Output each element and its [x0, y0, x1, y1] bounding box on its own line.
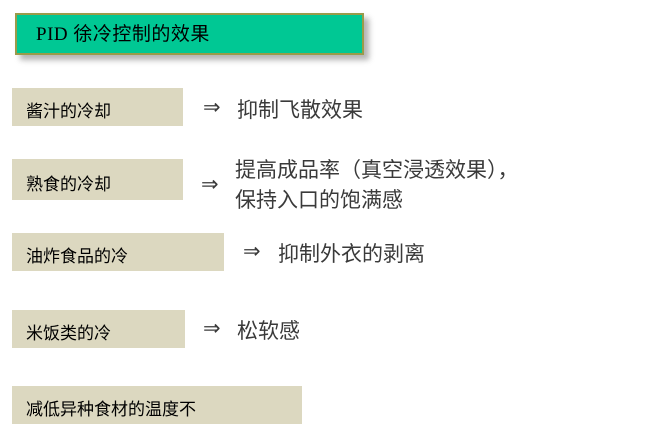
effect-description: 抑制飞散效果 [237, 95, 363, 125]
double-arrow-right-icon: ⇒ [201, 174, 219, 195]
effect-description-line: 松软感 [237, 316, 300, 346]
page-title: PID 徐冷控制的效果 [36, 19, 210, 46]
effect-label-text: 减低异种食材的温度不 [26, 395, 196, 420]
effect-description-line: 提高成品率（真空浸透效果）， [235, 155, 519, 185]
effect-description: 提高成品率（真空浸透效果）， 保持入口的饱满感 [235, 155, 519, 216]
effect-description: 松软感 [237, 316, 300, 346]
effect-label-text: 油炸食品的冷 [26, 242, 128, 267]
effect-description-line: 抑制外衣的剥离 [278, 239, 425, 269]
slide-title-banner: PID 徐冷控制的效果 [15, 13, 364, 55]
effect-description-line: 抑制飞散效果 [237, 95, 363, 125]
effect-label-text: 熟食的冷却 [26, 170, 111, 195]
effect-label-text: 酱汁的冷却 [26, 97, 111, 122]
effect-description-line: 保持入口的饱满感 [235, 185, 519, 215]
effect-description: 抑制外衣的剥离 [278, 239, 425, 269]
double-arrow-right-icon: ⇒ [203, 97, 221, 118]
double-arrow-right-icon: ⇒ [203, 318, 221, 339]
slide-canvas: PID 徐冷控制的效果 酱汁的冷却 ⇒ 抑制飞散效果 熟食的冷却 ⇒ 提高成品率… [0, 0, 654, 443]
effect-label-text: 米饭类的冷 [26, 319, 111, 344]
double-arrow-right-icon: ⇒ [243, 241, 261, 262]
